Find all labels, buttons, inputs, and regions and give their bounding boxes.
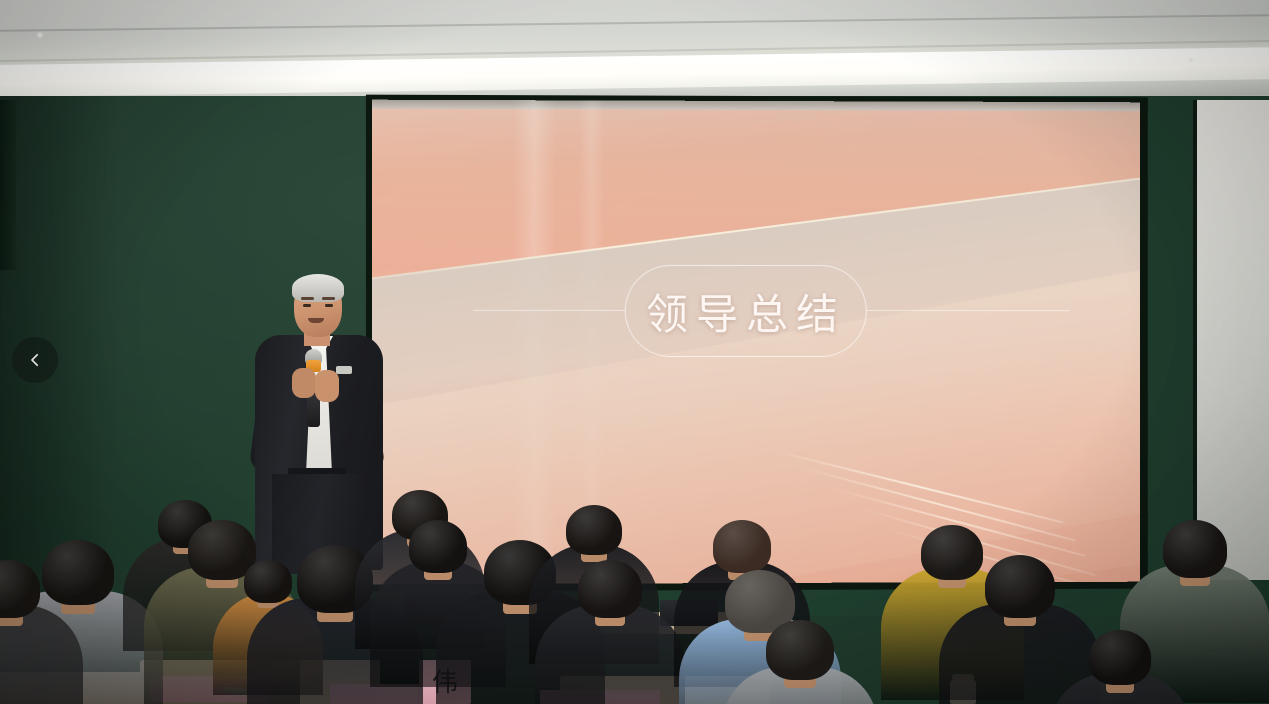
slide-title: 领导总结 — [646, 280, 846, 341]
presenter-hair — [292, 274, 344, 302]
presenter-mouth — [308, 318, 324, 323]
audience-member-head — [713, 520, 772, 573]
ceiling-screw — [1189, 58, 1193, 62]
audience-member-head — [766, 620, 833, 680]
ceiling-screw — [38, 33, 42, 37]
slide-rule-left — [473, 310, 626, 311]
audience-member-head — [578, 560, 642, 618]
audience-member-head — [566, 505, 622, 555]
presenter-eyebrow — [322, 297, 335, 300]
slide-title-pill: 领导总结 — [625, 265, 867, 357]
presenter-eyebrow — [301, 297, 314, 300]
presenter-right-hand — [315, 370, 339, 402]
presenter-eye — [325, 304, 333, 307]
audience-member — [535, 560, 685, 704]
presenter-left-hand — [292, 368, 316, 398]
audience-member — [0, 560, 83, 704]
presenter-eye — [303, 304, 311, 307]
projection-screen: 领导总结 — [372, 100, 1140, 585]
previous-image-button[interactable] — [12, 337, 58, 383]
door-frame — [0, 100, 16, 270]
audience-member — [1049, 630, 1192, 704]
presenter-wristwatch — [336, 366, 352, 374]
slide-rule-right — [866, 310, 1070, 311]
chevron-left-icon — [26, 351, 44, 369]
audience-member-head — [0, 560, 40, 618]
screenshot-root: 领导总结 伟 — [0, 0, 1269, 704]
side-whiteboard — [1193, 100, 1269, 580]
audience-member-head — [1089, 630, 1151, 685]
audience-member — [722, 620, 878, 704]
audience-member-head — [1163, 520, 1227, 578]
screen-top-rail — [372, 100, 1140, 112]
audience-member-head — [985, 555, 1055, 618]
